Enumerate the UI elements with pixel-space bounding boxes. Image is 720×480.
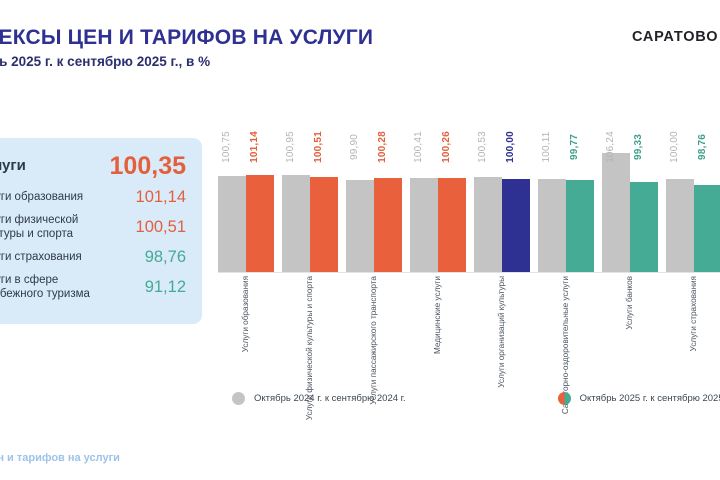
summary-row-label: Услуги образования <box>0 190 83 204</box>
summary-row-label: Услуги физической культуры и спорта <box>0 213 116 242</box>
bar-rect <box>374 178 402 272</box>
x-axis-label-cell: Услуги страхования <box>666 274 720 374</box>
bar-rect <box>694 185 720 272</box>
bar-value-label: 99,77 <box>569 134 580 160</box>
legend-marker-2025-icon <box>558 392 571 405</box>
bar-value-label: 101,14 <box>249 131 260 163</box>
x-axis-label: Медицинские услуги <box>433 276 443 354</box>
bar-2024: 100,11 <box>538 150 566 272</box>
bar-group: 99,90100,28 <box>346 150 402 272</box>
bar-rect <box>566 180 594 272</box>
summary-panel: Услуги 100,35 Услуги образования 101,14 … <box>0 138 202 324</box>
summary-row-value: 101,14 <box>136 188 186 207</box>
page-title: НДЕКСЫ ЦЕН И ТАРИФОВ НА УСЛУГИ <box>0 26 373 50</box>
bar-group: 100,1199,77 <box>538 150 594 272</box>
bar-2025: 98,76 <box>694 150 720 272</box>
bar-chart: 100,75101,14100,95100,5199,90100,28100,4… <box>218 150 720 272</box>
bar-2025: 101,14 <box>246 150 274 272</box>
bar-value-label: 100,00 <box>669 131 680 163</box>
bar-2024: 99,90 <box>346 150 374 272</box>
summary-row-label: Услуги в сфере зарубежного туризма <box>0 273 116 302</box>
bar-group: 100,75101,14 <box>218 150 274 272</box>
slide-root: НДЕКСЫ ЦЕН И ТАРИФОВ НА УСЛУГИ тябрь 202… <box>0 0 720 480</box>
bar-value-label: 99,90 <box>349 134 360 160</box>
summary-row: Услуги физической культуры и спорта 100,… <box>0 213 186 242</box>
region-label: САРАТОВО <box>632 29 718 45</box>
bar-rect <box>246 175 274 272</box>
bar-value-label: 100,00 <box>505 131 516 163</box>
legend-item: Октябрь 2024 г. к сентябрю 2024 г. <box>232 392 406 405</box>
x-axis-label-cell: Услуги банков <box>602 274 658 374</box>
bar-2025: 100,26 <box>438 150 466 272</box>
x-axis-label: Услуги пассажирского транспорта <box>369 276 379 405</box>
bar-group: 100,95100,51 <box>282 150 338 272</box>
bar-value-label: 100,41 <box>413 131 424 163</box>
bar-value-label: 106,24 <box>605 131 616 163</box>
summary-row-value: 98,76 <box>145 248 186 267</box>
bar-group: 100,53100,00 <box>474 150 530 272</box>
bar-2024: 106,24 <box>602 150 630 272</box>
bar-value-label: 99,33 <box>633 134 644 160</box>
bar-rect <box>630 182 658 272</box>
legend-label: Октябрь 2024 г. к сентябрю 2024 г. <box>254 393 406 404</box>
summary-row-value: 100,51 <box>136 218 186 237</box>
summary-row-value: 91,12 <box>145 278 186 297</box>
x-axis-label-cell: Услуги образования <box>218 274 274 374</box>
summary-total-label: Услуги <box>0 157 26 176</box>
bar-rect <box>666 179 694 272</box>
bar-rect <box>410 178 438 272</box>
legend-label: Октябрь 2025 г. к сентябрю 2025 г. <box>580 393 720 404</box>
bar-rect <box>438 178 466 272</box>
bar-value-label: 100,28 <box>377 131 388 163</box>
x-axis-labels: Услуги образованияУслуги физической куль… <box>218 274 720 374</box>
bar-2025: 99,33 <box>630 150 658 272</box>
bar-group: 106,2499,33 <box>602 150 658 272</box>
x-axis-label-cell: Услуги пассажирского транспорта <box>346 274 402 374</box>
bar-rect <box>310 177 338 272</box>
x-axis-label-cell: Санаторно-оздоровительные услуги <box>538 274 594 374</box>
bar-rect <box>282 175 310 272</box>
axis-baseline <box>218 272 720 273</box>
bar-value-label: 98,76 <box>697 134 708 160</box>
chart-legend: Октябрь 2024 г. к сентябрю 2024 г. Октяб… <box>232 392 720 405</box>
bar-value-label: 100,51 <box>313 131 324 163</box>
bar-rect <box>538 179 566 272</box>
page-subtitle: тябрь 2025 г. к сентябрю 2025 г., в % <box>0 54 210 69</box>
x-axis-label: Услуги страхования <box>689 276 699 351</box>
bar-2025: 100,51 <box>310 150 338 272</box>
bar-value-label: 100,11 <box>541 131 552 162</box>
x-axis-label-cell: Услуги физической культуры и спорта <box>282 274 338 374</box>
bar-group: 100,41100,26 <box>410 150 466 272</box>
bar-value-label: 100,26 <box>441 131 452 163</box>
x-axis-label: Услуги образования <box>241 276 251 352</box>
summary-row: Услуги образования 101,14 <box>0 188 186 207</box>
legend-item: Октябрь 2025 г. к сентябрю 2025 г. <box>558 392 720 405</box>
x-axis-label-cell: Услуги организаций культуры <box>474 274 530 374</box>
bar-2024: 100,41 <box>410 150 438 272</box>
bar-2024: 100,00 <box>666 150 694 272</box>
bar-2024: 100,75 <box>218 150 246 272</box>
bar-rect <box>602 153 630 272</box>
bar-rect <box>218 176 246 272</box>
bar-groups: 100,75101,14100,95100,5199,90100,28100,4… <box>218 150 720 272</box>
summary-row: Услуги страхования 98,76 <box>0 248 186 267</box>
x-axis-label: Услуги организаций культуры <box>497 276 507 388</box>
summary-row: Услуги в сфере зарубежного туризма 91,12 <box>0 273 186 302</box>
bar-2025: 99,77 <box>566 150 594 272</box>
x-axis-label: Услуги банков <box>625 276 635 330</box>
bar-value-label: 100,75 <box>221 131 232 163</box>
bar-2025: 100,00 <box>502 150 530 272</box>
bar-rect <box>474 177 502 272</box>
legend-marker-2024-icon <box>232 392 245 405</box>
bar-value-label: 100,95 <box>285 131 296 163</box>
bar-rect <box>346 180 374 272</box>
bar-2024: 100,53 <box>474 150 502 272</box>
summary-total-value: 100,35 <box>110 152 186 181</box>
bar-group: 100,0098,76 <box>666 150 720 272</box>
x-axis-label-cell: Медицинские услуги <box>410 274 466 374</box>
summary-row-total: Услуги 100,35 <box>0 152 186 181</box>
bar-value-label: 100,53 <box>477 131 488 163</box>
bar-rect <box>502 179 530 272</box>
footer-text: ы цен и тарифов на услуги <box>0 452 120 464</box>
bar-2025: 100,28 <box>374 150 402 272</box>
summary-row-label: Услуги страхования <box>0 250 82 264</box>
bar-2024: 100,95 <box>282 150 310 272</box>
